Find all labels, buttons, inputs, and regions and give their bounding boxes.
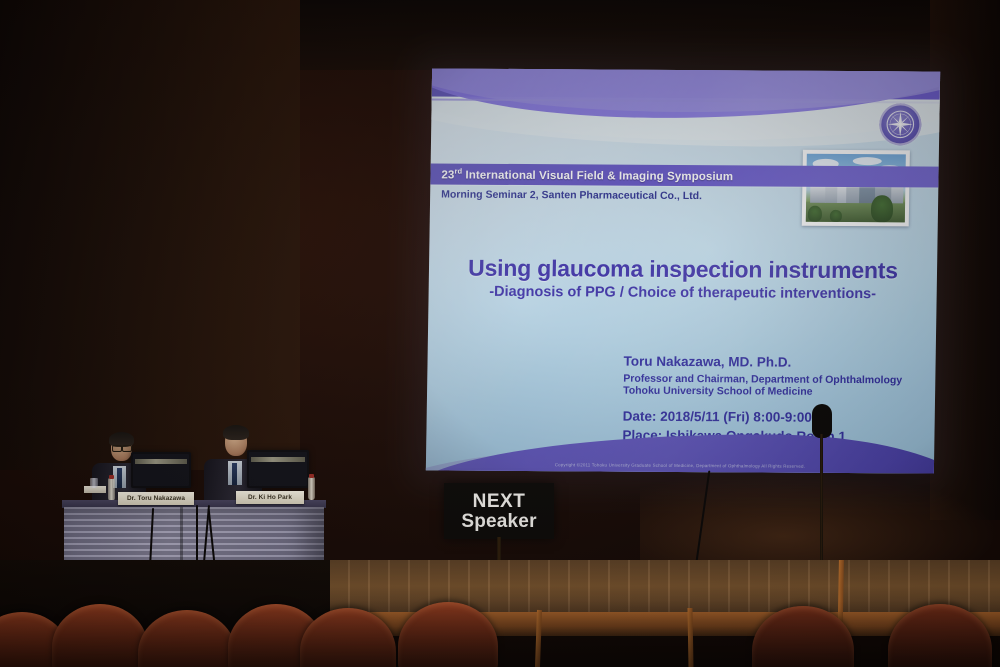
nameplate-toru-nakazawa: Dr. Toru Nakazawa	[118, 492, 194, 505]
symposium-banner-text: 23rd International Visual Field & Imagin…	[441, 167, 733, 184]
presentation-slide: 23rd International Visual Field & Imagin…	[426, 68, 940, 473]
stage-rail-left	[535, 610, 542, 667]
symposium-ordinal: 23	[441, 169, 454, 181]
hall-left-wall	[0, 0, 300, 470]
symposium-banner: 23rd International Visual Field & Imagin…	[430, 163, 938, 187]
water-bottle-right	[308, 477, 315, 500]
next-speaker-line2: Speaker	[461, 512, 536, 531]
hall-right-wall	[930, 0, 1000, 520]
next-speaker-line1: NEXT	[473, 492, 526, 511]
next-speaker-sign: NEXT Speaker	[444, 483, 554, 539]
panel-monitor-left	[131, 452, 191, 488]
projection-screen: 23rd International Visual Field & Imagin…	[426, 68, 940, 473]
tohoku-university-star-emblem	[879, 103, 922, 145]
symposium-title: International Visual Field & Imaging Sym…	[462, 169, 733, 183]
campus-photo	[802, 150, 910, 227]
seminar-subtitle: Morning Seminar 2, Santen Pharmaceutical…	[441, 189, 702, 203]
water-bottle-left	[108, 478, 115, 501]
presenter-affiliation-line2: Tohoku University School of Medicine	[623, 385, 902, 399]
panel-monitor-right	[247, 450, 309, 488]
presenter-block: Toru Nakazawa, MD. Ph.D. Professor and C…	[622, 354, 902, 446]
slide-title: Using glaucoma inspection instruments	[429, 254, 937, 284]
slide-subtitle: -Diagnosis of PPG / Choice of therapeuti…	[429, 283, 937, 302]
auditorium-scene: 23rd International Visual Field & Imagin…	[0, 0, 1000, 667]
nameplate-label: Dr. Ki Ho Park	[248, 494, 292, 501]
stage-rail-mid	[687, 608, 693, 667]
water-glass-left	[90, 478, 98, 488]
nameplate-label: Dr. Toru Nakazawa	[127, 495, 185, 502]
nameplate-ki-ho-park: Dr. Ki Ho Park	[236, 491, 304, 504]
presenter-name: Toru Nakazawa, MD. Ph.D.	[623, 354, 902, 371]
microphone-icon	[812, 404, 832, 438]
symposium-ordinal-suffix: rd	[454, 167, 462, 176]
session-date: Date: 2018/5/11 (Fri) 8:00-9:00	[623, 408, 902, 427]
